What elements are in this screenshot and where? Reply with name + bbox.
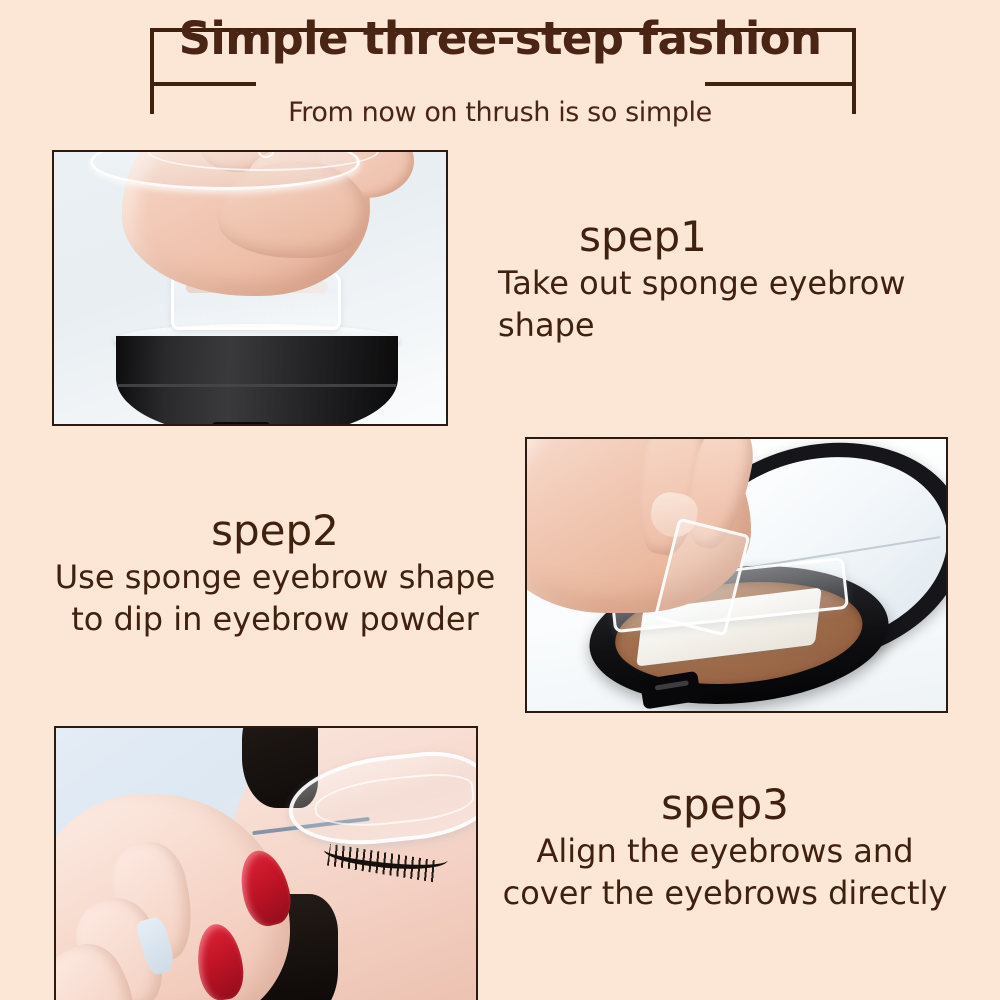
subtitle-rule-left	[150, 82, 256, 86]
stamp-inner-edge	[312, 769, 476, 831]
step2-photo-scene	[527, 439, 946, 711]
step3-description-line2: cover the eyebrows directly	[490, 872, 960, 914]
subtitle-rule-right	[705, 82, 856, 86]
step1-photo-scene	[54, 152, 446, 424]
step1-heading: spep1	[498, 212, 938, 262]
step1-text-block: spep1 Take out sponge eyebrow shape	[498, 212, 938, 346]
step2-description-line2: to dip in eyebrow powder	[40, 598, 510, 640]
step3-photo-scene	[56, 728, 476, 1000]
page-subtitle-wrap: From now on thrush is so simple	[0, 96, 1000, 130]
step2-heading: spep2	[40, 506, 510, 556]
step2-description-line1: Use sponge eyebrow shape	[40, 556, 510, 598]
step2-text-block: spep2 Use sponge eyebrow shape to dip in…	[40, 506, 510, 640]
step2-photo	[525, 437, 948, 713]
step1-photo	[52, 150, 448, 426]
step1-description-line2: shape	[498, 304, 938, 346]
compact-seam	[118, 384, 396, 387]
step3-photo	[54, 726, 478, 1000]
latch-bar	[655, 680, 689, 690]
step3-text-block: spep3 Align the eyebrows and cover the e…	[490, 780, 960, 914]
compact-notch	[212, 422, 270, 426]
page-title: Simple three-step fashion	[0, 10, 1000, 68]
page-subtitle: From now on thrush is so simple	[276, 96, 724, 130]
step3-heading: spep3	[490, 780, 960, 830]
step1-description-line1: Take out sponge eyebrow	[498, 262, 938, 304]
compact-body	[116, 336, 398, 426]
step3-description-line1: Align the eyebrows and	[490, 830, 960, 872]
